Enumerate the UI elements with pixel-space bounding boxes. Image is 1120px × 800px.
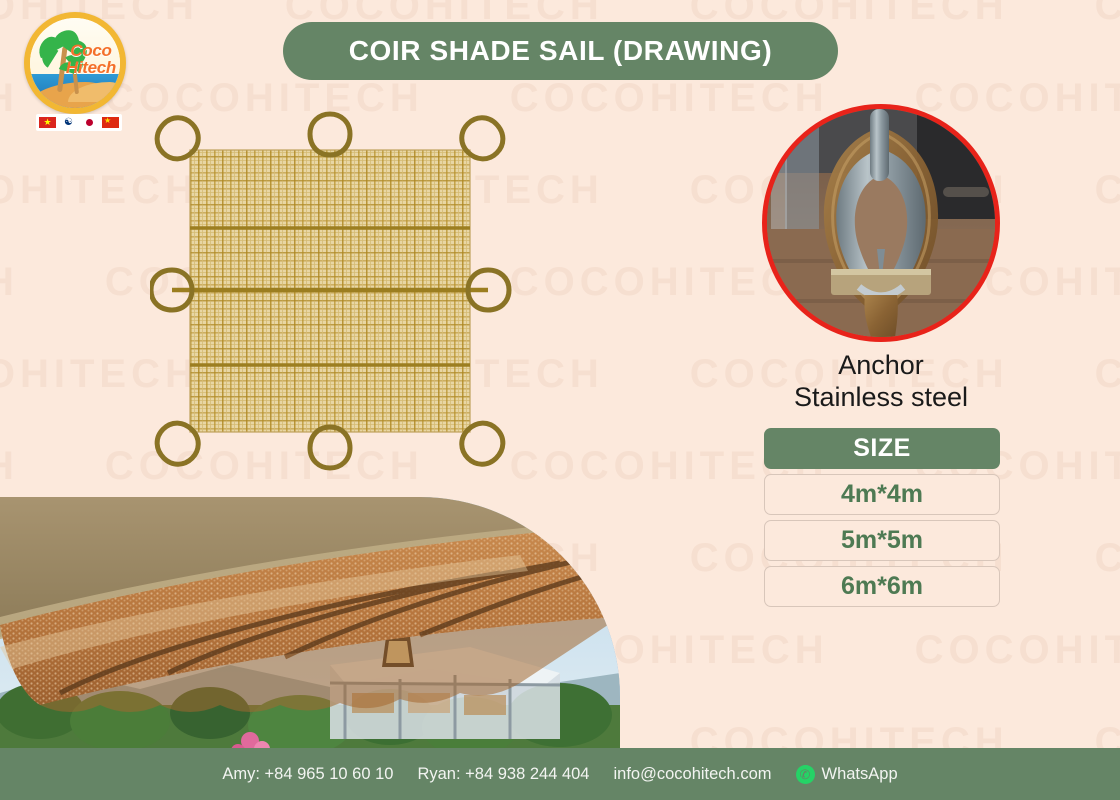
china-flag-icon: [101, 116, 120, 129]
size-table-header: SIZE: [764, 428, 1000, 469]
anchor-thimble-photo: [762, 104, 1000, 342]
south-korea-flag-icon: [59, 116, 78, 129]
contact-email[interactable]: info@cocohitech.com: [614, 765, 772, 784]
size-table-row[interactable]: 4m*4m: [764, 474, 1000, 515]
whatsapp-label: WhatsApp: [822, 765, 898, 784]
coir-shade-sail-technical-drawing: [150, 108, 540, 483]
hanging-rod: [870, 109, 889, 181]
anchor-caption-line1: Anchor: [762, 350, 1000, 382]
anchor-caption: Anchor Stainless steel: [762, 350, 1000, 414]
scene-illustration: [0, 497, 620, 767]
size-table: SIZE 4m*4m 5m*5m 6m*6m: [764, 428, 1000, 612]
poster-canvas: COCOHITECHCOCOHITECHCOCOHITECHCOCOHITECH…: [0, 0, 1120, 800]
size-table-row[interactable]: 6m*6m: [764, 566, 1000, 607]
logo-text-line1: Coco: [66, 42, 116, 59]
anchor-caption-line2: Stainless steel: [762, 382, 1000, 414]
anchor-photo-illustration: [767, 109, 995, 337]
contact-amy[interactable]: Amy: +84 965 10 60 10: [222, 765, 393, 784]
drawing-svg: [150, 108, 540, 483]
contact-whatsapp[interactable]: ✆ WhatsApp: [796, 765, 898, 784]
whatsapp-icon: ✆: [796, 765, 815, 784]
coir-shade-canopy-installation-photo: [0, 497, 620, 767]
logo-flag-strip: [36, 114, 122, 131]
page-title: COIR SHADE SAIL (DRAWING): [349, 35, 773, 67]
page-title-bar: COIR SHADE SAIL (DRAWING): [283, 22, 838, 80]
logo-wordmark: Coco Hitech: [66, 42, 116, 77]
contact-ryan[interactable]: Ryan: +84 938 244 404: [417, 765, 589, 784]
vietnam-flag-icon: [38, 116, 57, 129]
logo-badge-ring: Coco Hitech: [24, 12, 126, 114]
ring-bottom-center: [310, 427, 350, 468]
size-table-row[interactable]: 5m*5m: [764, 520, 1000, 561]
japan-flag-icon: [80, 116, 99, 129]
logo-text-line2: Hitech: [66, 59, 116, 76]
coco-hitech-logo: Coco Hitech: [14, 12, 134, 130]
ring-top-center: [310, 114, 350, 155]
logo-scene: Coco Hitech: [30, 18, 120, 108]
contact-footer: Amy: +84 965 10 60 10 Ryan: +84 938 244 …: [0, 748, 1120, 800]
